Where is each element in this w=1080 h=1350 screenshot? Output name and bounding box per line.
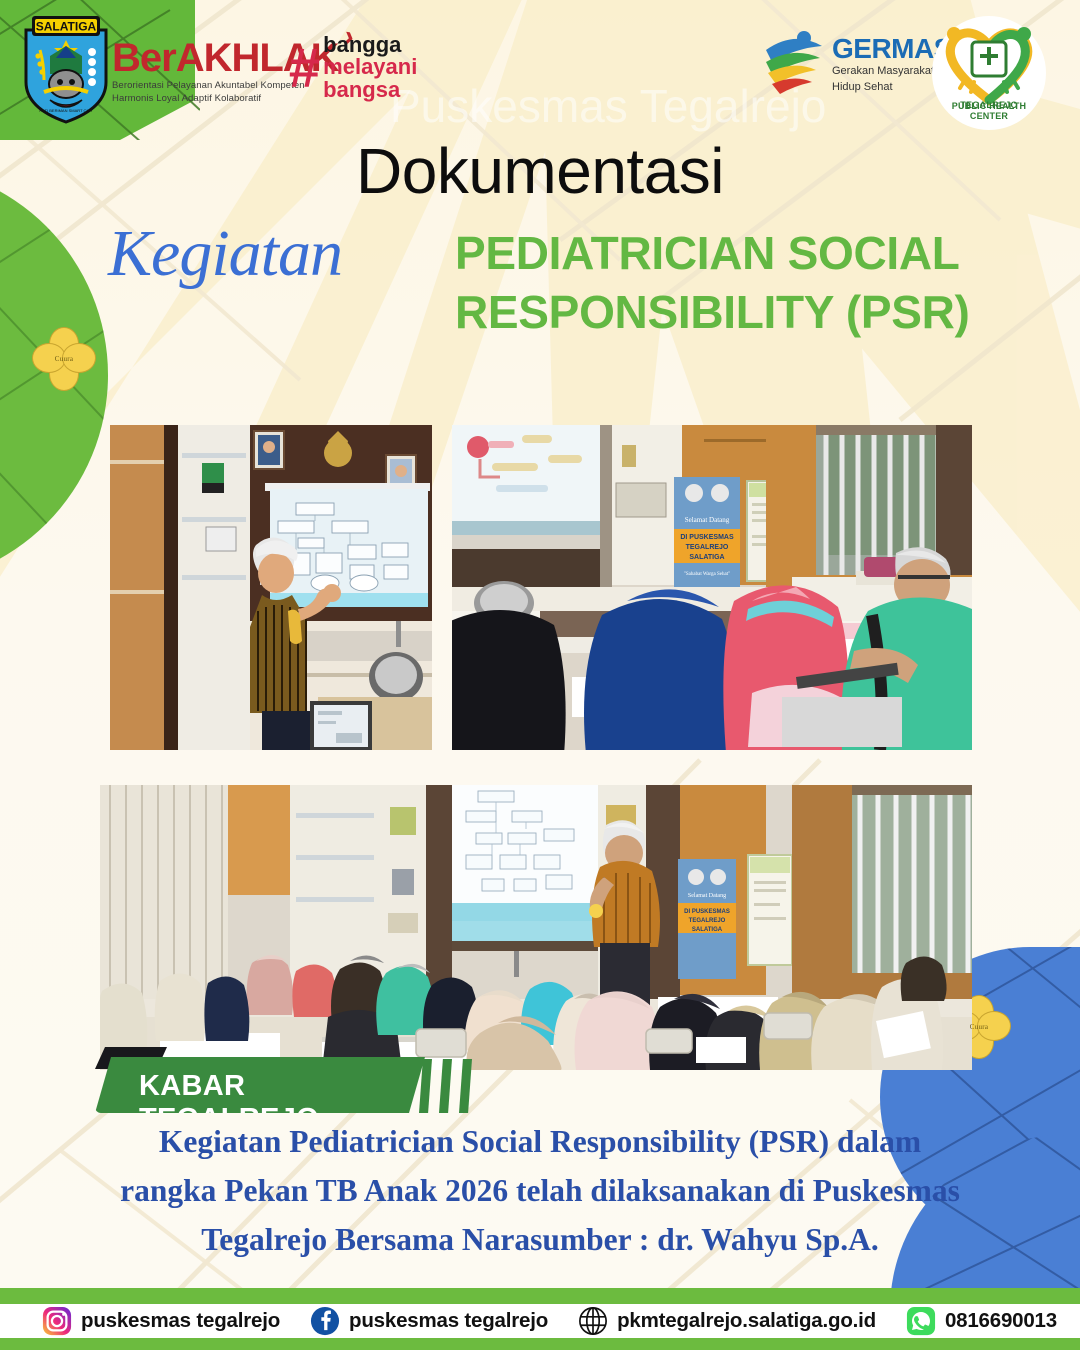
svg-text:DI PUSKESMAS: DI PUSKESMAS: [680, 534, 734, 541]
photo-classroom-wide: Selamat Datang DI PUSKESMAS TEGALREJO SA…: [100, 785, 972, 1070]
header-logo-bar: SALATIGA HATI BERIMAN SMART CITY BerAKHL…: [0, 0, 1080, 140]
puskesmas-tegalrejo-badge: TEGALREJO PUBLIC HEALTH CENTER: [932, 16, 1046, 130]
germas-figure-icon: [762, 28, 826, 102]
photo-presenter-screen: [110, 425, 432, 750]
photo-audience-banner: Selamat Datang DI PUSKESMAS TEGALREJO SA…: [452, 425, 972, 750]
page-title-kegiatan: Kegiatan: [108, 216, 458, 292]
bangga-melayani-bangsa-logo: # bangga melayani bangsa: [288, 34, 417, 101]
bangga-line2: melayani: [323, 56, 417, 78]
footer-item-instagram[interactable]: puskesmas tegalrejo: [42, 1306, 280, 1336]
svg-text:SALATIGA: SALATIGA: [689, 554, 724, 561]
caption-line-3: Tegalrejo Bersama Narasumber : dr. Wahyu…: [70, 1216, 1010, 1265]
svg-text:HATI BERIMAN SMART CITY: HATI BERIMAN SMART CITY: [39, 108, 93, 113]
page-title-dokumentasi: Dokumentasi: [0, 134, 1080, 208]
kabar-tegalrejo-banner: KABAR TEGALREJO: [95, 1047, 515, 1113]
svg-text:SALATIGA: SALATIGA: [692, 927, 723, 933]
footer-label-website: pkmtegalrejo.salatiga.go.id: [617, 1309, 876, 1333]
svg-text:SALATIGA: SALATIGA: [36, 20, 97, 34]
svg-text:"Sahabat Warga Sehat": "Sahabat Warga Sehat": [684, 572, 730, 577]
caption-line-2: rangka Pekan TB Anak 2026 telah dilaksan…: [70, 1167, 1010, 1216]
globe-icon: [578, 1306, 608, 1336]
banner-slash-3: [459, 1059, 472, 1113]
svg-text:DI PUSKESMAS: DI PUSKESMAS: [684, 909, 730, 915]
svg-text:Selamat Datang: Selamat Datang: [685, 516, 730, 524]
germas-logo: GERMAS Gerakan Masyarakat Hidup Sehat: [762, 28, 952, 102]
poster-canvas: Puskesmas Tegalrejo Cuura a: [0, 0, 1080, 1350]
banner-green-plate: KABAR TEGALREJO: [95, 1057, 425, 1113]
instagram-icon: [42, 1306, 72, 1336]
caption-line-1: Kegiatan Pediatrician Social Responsibil…: [70, 1118, 1010, 1167]
footer-label-whatsapp: 0816690013: [945, 1309, 1057, 1333]
whatsapp-icon: [906, 1306, 936, 1336]
footer-item-website[interactable]: pkmtegalrejo.salatiga.go.id: [578, 1306, 876, 1336]
heart-hands-cross-icon: [932, 16, 1046, 108]
facebook-icon: [310, 1306, 340, 1336]
bangga-line1: bangga: [323, 34, 417, 56]
svg-text:TEGALREJO: TEGALREJO: [686, 544, 729, 551]
svg-text:TEGALREJO: TEGALREJO: [689, 918, 726, 924]
bangga-line3: bangsa: [323, 79, 417, 101]
footer-label-instagram: puskesmas tegalrejo: [81, 1309, 280, 1333]
decor-clover-left: Cuura: [32, 327, 96, 391]
badge-line2: PUBLIC HEALTH CENTER: [932, 101, 1046, 121]
salatiga-coat-of-arms-icon: SALATIGA HATI BERIMAN SMART CITY: [20, 12, 112, 124]
banner-slash-2: [439, 1059, 452, 1113]
footer-contact-list: puskesmas tegalrejo puskesmas tegalrejo …: [0, 1302, 1080, 1340]
footer-item-whatsapp[interactable]: 0816690013: [906, 1306, 1057, 1336]
svg-text:Selamat Datang: Selamat Datang: [688, 893, 726, 899]
footer-label-facebook: puskesmas tegalrejo: [349, 1309, 548, 1333]
caption-text: Kegiatan Pediatrician Social Responsibil…: [70, 1118, 1010, 1264]
footer-item-facebook[interactable]: puskesmas tegalrejo: [310, 1306, 548, 1336]
page-title-subject: PEDIATRICIAN SOCIAL RESPONSIBILITY (PSR): [455, 224, 1055, 342]
hash-icon: #: [288, 44, 319, 92]
